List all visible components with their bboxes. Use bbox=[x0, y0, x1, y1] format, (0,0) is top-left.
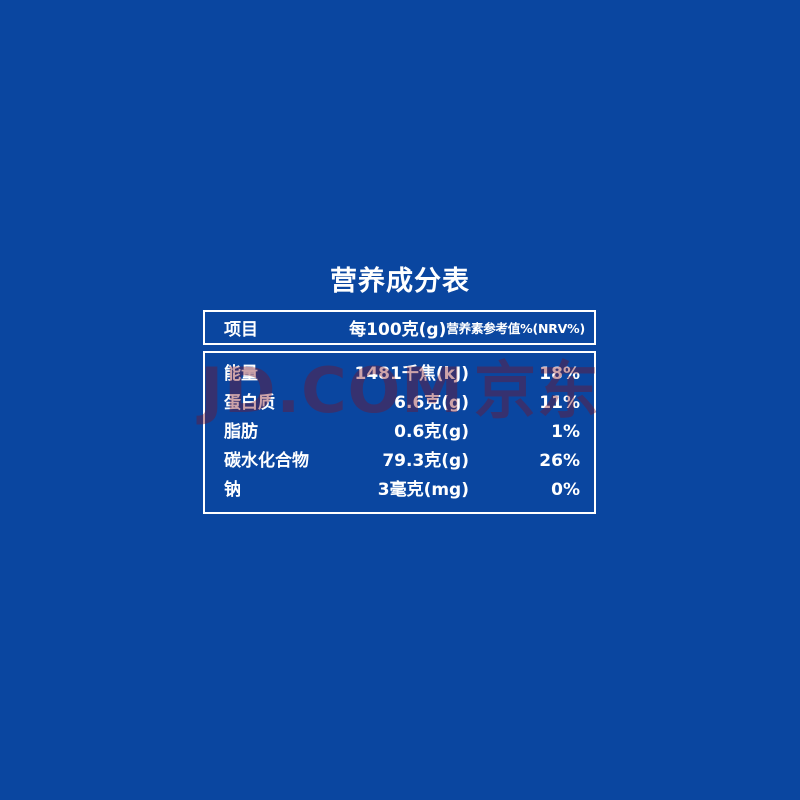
table-header: 项目 每100克(g) 营养素参考值%(NRV%) bbox=[203, 310, 596, 345]
row-nrv: 26% bbox=[469, 451, 594, 471]
row-value: 6.6克(g) bbox=[333, 388, 469, 413]
table-row: 碳水化合物 79.3克(g) 26% bbox=[205, 446, 594, 475]
nutrition-label-canvas: 营养成分表 项目 每100克(g) 营养素参考值%(NRV%) 能量 1481千… bbox=[0, 0, 800, 800]
table-row: 能量 1481千焦(kJ) 18% bbox=[205, 359, 594, 388]
row-value: 1481千焦(kJ) bbox=[333, 359, 469, 384]
row-nrv: 11% bbox=[469, 393, 594, 413]
row-nrv: 0% bbox=[469, 480, 594, 500]
table-row: 钠 3毫克(mg) 0% bbox=[205, 475, 594, 504]
table-row: 蛋白质 6.6克(g) 11% bbox=[205, 388, 594, 417]
nutrition-facts-table: 项目 每100克(g) 营养素参考值%(NRV%) 能量 1481千焦(kJ) … bbox=[203, 310, 596, 514]
column-header-nrv: 营养素参考值%(NRV%) bbox=[446, 318, 594, 337]
row-label: 钠 bbox=[205, 475, 333, 500]
row-label: 能量 bbox=[205, 359, 333, 384]
row-nrv: 1% bbox=[469, 422, 594, 442]
row-value: 0.6克(g) bbox=[333, 417, 469, 442]
row-value: 79.3克(g) bbox=[333, 446, 469, 471]
column-header-per-100g: 每100克(g) bbox=[323, 315, 446, 340]
row-label: 脂肪 bbox=[205, 417, 333, 442]
table-header-row: 项目 每100克(g) 营养素参考值%(NRV%) bbox=[205, 312, 594, 343]
row-nrv: 18% bbox=[469, 364, 594, 384]
table-body: 能量 1481千焦(kJ) 18% 蛋白质 6.6克(g) 11% 脂肪 0.6… bbox=[203, 351, 596, 514]
table-row: 脂肪 0.6克(g) 1% bbox=[205, 417, 594, 446]
row-label: 碳水化合物 bbox=[205, 446, 333, 471]
row-label: 蛋白质 bbox=[205, 388, 333, 413]
row-value: 3毫克(mg) bbox=[333, 475, 469, 500]
column-header-item: 项目 bbox=[205, 315, 323, 340]
page-title: 营养成分表 bbox=[0, 266, 800, 298]
